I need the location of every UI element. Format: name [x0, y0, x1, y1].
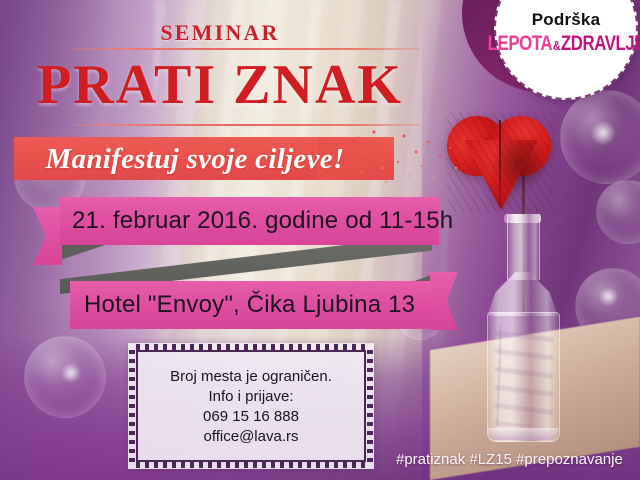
venue-banner-text: Hotel "Envoy", Čika Ljubina 13: [84, 291, 415, 319]
poster-canvas: SEMINAR PRATI ZNAK Manifestuj svoje cilj…: [0, 0, 640, 480]
contact-stamp-box: Broj mesta je ograničen. Info i prijave:…: [128, 343, 374, 469]
divider-top: [72, 48, 420, 50]
bottle-base: [487, 428, 558, 440]
bottle-embossed-text: [495, 326, 553, 426]
heart-texture: [447, 112, 555, 212]
date-banner: 21. februar 2016. godine od 11-15h: [60, 197, 439, 245]
kicker-seminar: SEMINAR: [0, 20, 440, 46]
bokeh-highlight: [62, 364, 80, 382]
sponsor-badge-content: Podrška LEPOTA & ZDRAVLJE: [496, 10, 636, 56]
contact-email[interactable]: office@lava.rs: [204, 428, 299, 445]
glass-bottle: [481, 214, 565, 440]
date-banner-text: 21. februar 2016. godine od 11-15h: [72, 207, 453, 235]
slogan-text: Manifestuj svoje ciljeve!: [14, 140, 376, 178]
bottle-lip: [504, 214, 541, 223]
bokeh-highlight: [592, 122, 614, 144]
hashtags: #pratiznak #LZ15 #prepoznavanje: [396, 451, 623, 468]
bokeh-highlight: [600, 288, 617, 305]
contact-lines: Broj mesta je ograničen. Info i prijave:…: [128, 343, 374, 469]
brand-ampersand: &: [552, 38, 561, 53]
badge-brand-logo: LEPOTA & ZDRAVLJE: [487, 32, 640, 56]
contact-line-info: Info i prijave:: [208, 388, 293, 405]
page-title: PRATI ZNAK: [0, 56, 440, 115]
brand-zdravlje: ZDRAVLJE: [560, 32, 640, 56]
contact-phone[interactable]: 069 15 16 888: [203, 408, 299, 425]
badge-support-label: Podrška: [532, 10, 601, 30]
brand-lepota: LEPOTA: [487, 32, 552, 56]
venue-banner: Hotel "Envoy", Čika Ljubina 13: [70, 281, 447, 329]
red-heart-icon: [447, 112, 555, 212]
contact-line-limit: Broj mesta je ograničen.: [170, 368, 332, 385]
bottle-shoulder: [487, 272, 558, 316]
bottle-neck: [507, 214, 540, 280]
divider-bottom: [72, 124, 420, 126]
